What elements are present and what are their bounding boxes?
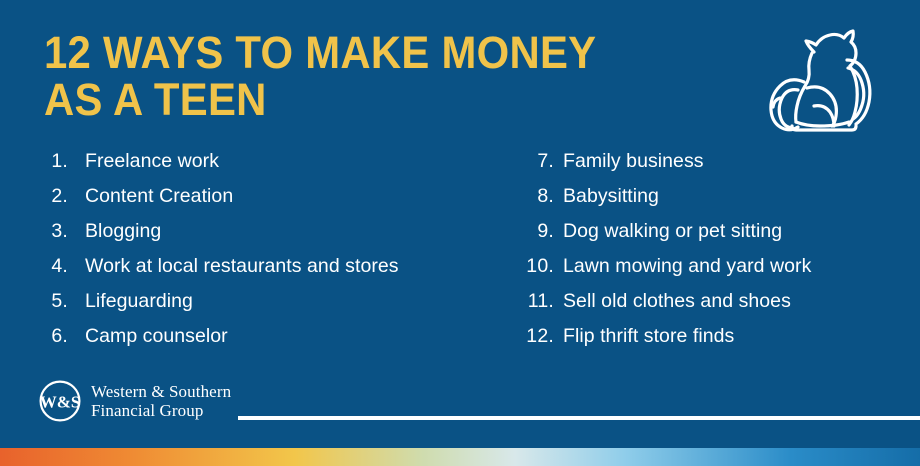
- list-item-number: 8.: [520, 179, 554, 214]
- list-item-number: 5.: [42, 284, 68, 319]
- list-item: 11. Sell old clothes and shoes: [520, 284, 910, 319]
- list-item: 8. Babysitting: [520, 179, 910, 214]
- list-column-left: 1. Freelance work 2. Content Creation 3.…: [42, 144, 512, 354]
- list-item: 3. Blogging: [42, 214, 512, 249]
- list-item-number: 2.: [42, 179, 68, 214]
- list-column-right: 7. Family business 8. Babysitting 9. Dog…: [520, 144, 910, 354]
- list-item-label: Lawn mowing and yard work: [563, 249, 910, 284]
- list-item-label: Sell old clothes and shoes: [563, 284, 910, 319]
- list-item-number: 12.: [520, 319, 554, 354]
- list-item: 12. Flip thrift store finds: [520, 319, 910, 354]
- list-item: 5. Lifeguarding: [42, 284, 512, 319]
- list-item-label: Blogging: [85, 214, 512, 249]
- list-item-number: 4.: [42, 249, 68, 284]
- list-item: 2. Content Creation: [42, 179, 512, 214]
- list-item-number: 6.: [42, 319, 68, 354]
- brand-gradient-bar: [0, 448, 920, 466]
- list-item-label: Dog walking or pet sitting: [563, 214, 910, 249]
- list-item-label: Lifeguarding: [85, 284, 512, 319]
- list-item-number: 11.: [520, 284, 554, 319]
- list-item: 10. Lawn mowing and yard work: [520, 249, 910, 284]
- list-item: 6. Camp counselor: [42, 319, 512, 354]
- list-item: 9. Dog walking or pet sitting: [520, 214, 910, 249]
- list-item: 7. Family business: [520, 144, 910, 179]
- list-item: 1. Freelance work: [42, 144, 512, 179]
- list-item-number: 1.: [42, 144, 68, 179]
- list-item-label: Babysitting: [563, 179, 910, 214]
- infographic-poster: 12 Ways to Make Money as a Teen: [0, 0, 920, 466]
- ws-monogram-text: W&S: [40, 392, 81, 411]
- list-item-label: Content Creation: [85, 179, 512, 214]
- list-item: 4. Work at local restaurants and stores: [42, 249, 512, 284]
- list-item-number: 9.: [520, 214, 554, 249]
- footer-divider: [238, 416, 920, 420]
- list-item-number: 7.: [520, 144, 554, 179]
- brand-wordmark: Western & Southern Financial Group: [91, 382, 231, 421]
- list-item-number: 3.: [42, 214, 68, 249]
- ws-monogram-icon: W&S: [38, 379, 82, 423]
- brand-logo: W&S Western & Southern Financial Group: [38, 378, 231, 424]
- list-item-label: Family business: [563, 144, 910, 179]
- lion-icon: [748, 16, 908, 134]
- list-item-label: Freelance work: [85, 144, 512, 179]
- page-title: 12 Ways to Make Money as a Teen: [44, 29, 695, 123]
- list-item-label: Work at local restaurants and stores: [85, 249, 512, 284]
- list-item-number: 10.: [520, 249, 554, 284]
- list-item-label: Camp counselor: [85, 319, 512, 354]
- list-item-label: Flip thrift store finds: [563, 319, 910, 354]
